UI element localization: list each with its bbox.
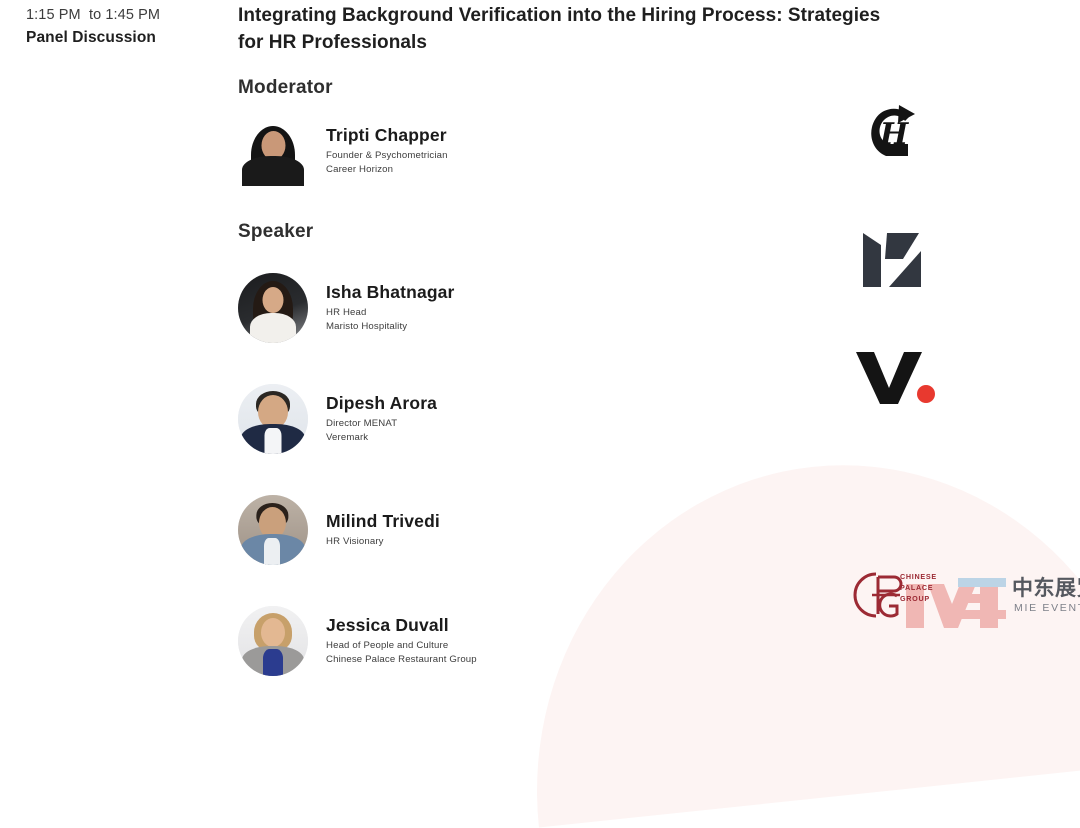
session-main-column: Integrating Background Verification into… xyxy=(238,0,938,687)
moderator-section-heading: Moderator xyxy=(238,77,938,99)
person-title: Director MENAT xyxy=(326,417,437,431)
speaker-info: Jessica Duvall Head of People and Cultur… xyxy=(326,615,477,667)
session-time-range: 1:15 PM to 1:45 PM xyxy=(26,6,226,26)
person-org: Career Horizon xyxy=(326,163,448,177)
veremark-logo xyxy=(852,348,936,408)
speaker-info: Isha Bhatnagar HR Head Maristo Hospitali… xyxy=(326,282,455,334)
maristo-hospitality-logo xyxy=(858,228,928,292)
cpg-line-palace: PALACE xyxy=(900,582,937,593)
avatar-milind-trivedi xyxy=(238,495,308,565)
mie-english-name: MIE EVENTS DMCC xyxy=(1014,602,1080,614)
mie-chinese-name: 中东展览集团 xyxy=(1012,572,1080,602)
person-name: Isha Bhatnagar xyxy=(326,282,455,303)
speaker-row[interactable]: Dipesh Arora Director MENAT Veremark xyxy=(238,373,938,465)
person-title: Founder & Psychometrician xyxy=(326,149,448,163)
person-org: Maristo Hospitality xyxy=(326,320,455,334)
avatar-isha-bhatnagar xyxy=(238,273,308,343)
person-name: Milind Trivedi xyxy=(326,511,440,532)
person-org: Chinese Palace Restaurant Group xyxy=(326,653,477,667)
avatar-dipesh-arora xyxy=(238,384,308,454)
person-name: Tripti Chapper xyxy=(326,125,448,146)
cpg-line-chinese: CHINESE xyxy=(900,571,937,582)
cpg-line-group: GROUP xyxy=(900,593,937,604)
person-org: Veremark xyxy=(326,431,437,445)
career-horizon-logo: H xyxy=(858,98,928,168)
speaker-row[interactable]: Milind Trivedi HR Visionary xyxy=(238,484,938,576)
session-title: Integrating Background Verification into… xyxy=(238,3,908,57)
session-type-label: Panel Discussion xyxy=(26,28,226,49)
speaker-row[interactable]: Jessica Duvall Head of People and Cultur… xyxy=(238,595,938,687)
cpg-wordmark: CHINESE PALACE GROUP xyxy=(900,571,937,604)
person-name: Dipesh Arora xyxy=(326,393,437,414)
person-title: HR Head xyxy=(326,306,455,320)
speaker-info: Dipesh Arora Director MENAT Veremark xyxy=(326,393,437,445)
moderator-row[interactable]: Tripti Chapper Founder & Psychometrician… xyxy=(238,105,938,197)
person-name: Jessica Duvall xyxy=(326,615,477,636)
speaker-info: Milind Trivedi HR Visionary xyxy=(326,511,440,549)
person-title: HR Visionary xyxy=(326,535,440,549)
speaker-row[interactable]: Isha Bhatnagar HR Head Maristo Hospitali… xyxy=(238,262,938,354)
moderator-info: Tripti Chapper Founder & Psychometrician… xyxy=(326,125,448,177)
avatar-tripti-chapper xyxy=(238,116,308,186)
avatar-jessica-duvall xyxy=(238,606,308,676)
svg-text:H: H xyxy=(879,117,910,152)
speaker-section-heading: Speaker xyxy=(238,221,938,243)
session-time-column: 1:15 PM to 1:45 PM Panel Discussion xyxy=(26,6,226,48)
footer-logo-cluster: 中东展览集团 MIE EVENTS DMCC CHINESE PALACE GR… xyxy=(845,562,1080,642)
